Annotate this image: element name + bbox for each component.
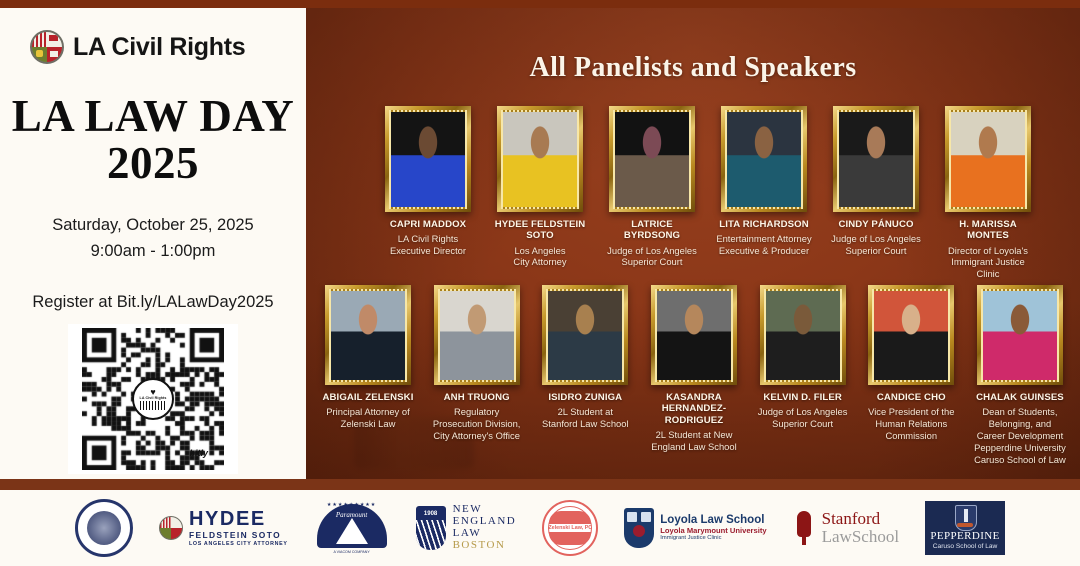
panelist-photo <box>727 112 801 207</box>
panelist-row-1: CAPRI MADDOXLA Civil RightsExecutive Dir… <box>378 106 1038 280</box>
portrait-frame <box>868 285 954 385</box>
nel-year: 1908 <box>416 511 446 517</box>
sponsor-logo-loyola-law-school: Loyola Law School Loyola Marymount Unive… <box>624 508 766 548</box>
panelist-name: CHALAK GUINSES <box>976 392 1064 403</box>
loyola-line3: Immigrant Justice Clinic <box>660 535 766 541</box>
portrait-frame <box>325 285 411 385</box>
brand-name: LA Civil Rights <box>73 33 245 62</box>
left-info-panel: LA Civil Rights LA LAW DAY 2025 Saturday… <box>0 8 306 479</box>
panelist-title: Dean of Students,Belonging, andCareer De… <box>974 406 1066 465</box>
panelist-name: CAPRI MADDOX <box>390 219 466 230</box>
heart-icon: ♥ <box>150 388 155 396</box>
flyer-root: LA Civil Rights LA LAW DAY 2025 Saturday… <box>0 0 1080 566</box>
panelist-title: RegulatoryProsecution Division,City Atto… <box>433 406 521 442</box>
portrait-frame <box>977 285 1063 385</box>
event-title-line2: 2025 <box>0 140 306 187</box>
qr-code-icon[interactable]: ♥ LA Civil Rights bitly <box>82 328 224 470</box>
shield-icon: 1908 <box>416 506 446 550</box>
panelist-name: ANH TRUONG <box>444 392 510 403</box>
panelist-photo <box>874 291 948 380</box>
panelist-name: CINDY PÁNUCO <box>838 219 913 230</box>
panelist-photo <box>951 112 1025 207</box>
panelist-title: Director of Loyola'sImmigrant JusticeCli… <box>948 245 1028 281</box>
portrait-frame <box>609 106 695 212</box>
loyola-line1: Loyola Law School <box>660 514 766 527</box>
top-border-rule <box>0 0 1080 8</box>
panelist-photo <box>503 112 577 207</box>
panelist-photo <box>839 112 913 207</box>
panelist-photo <box>331 291 405 380</box>
event-date: Saturday, October 25, 2025 <box>0 213 306 239</box>
panelist-title: LA Civil RightsExecutive Director <box>390 233 466 257</box>
portrait-frame <box>385 106 471 212</box>
qr-center-logo: ♥ LA Civil Rights <box>132 378 174 420</box>
stanford-tree-icon <box>793 511 815 545</box>
panelist-photo <box>440 291 514 380</box>
qr-watermark: bitly <box>189 448 208 458</box>
panelist-photo <box>657 291 731 380</box>
panelist-title: 2L Student at NewEngland Law School <box>651 429 736 453</box>
panelist-title: Judge of Los AngelesSuperior Court <box>758 406 848 430</box>
qr-code-card[interactable]: ♥ LA Civil Rights bitly <box>68 324 238 474</box>
sponsor-logo-stanford-law-school: Stanford LawSchool <box>793 510 899 545</box>
portrait-frame <box>434 285 520 385</box>
court-seal-icon <box>75 499 133 557</box>
panelist-card: ISIDRO ZUNIGA2L Student atStanford Law S… <box>535 285 635 430</box>
brand-lockup: LA Civil Rights <box>30 30 245 64</box>
panelist-photo <box>766 291 840 380</box>
event-datetime: Saturday, October 25, 2025 9:00am - 1:00… <box>0 213 306 264</box>
zelenski-name: Zelenski Law, PC <box>544 525 596 531</box>
hydee-line1: HYDEE <box>189 509 288 529</box>
panelist-card: ANH TRUONGRegulatoryProsecution Division… <box>427 285 527 442</box>
sponsor-logo-superior-court <box>75 499 133 557</box>
la-city-seal-icon <box>30 30 64 64</box>
paramount-name: Paramount <box>314 511 390 519</box>
separator-rule <box>0 479 1080 490</box>
panelist-name: KASANDRA HERNANDEZ-RODRIGUEZ <box>644 392 744 426</box>
sponsor-logo-hydee-feldstein-soto: HYDEE FELDSTEIN SOTO LOS ANGELES CITY AT… <box>159 509 288 547</box>
panelist-card: CAPRI MADDOXLA Civil RightsExecutive Dir… <box>378 106 478 257</box>
panelist-title: Judge of Los AngelesSuperior Court <box>831 233 921 257</box>
panelist-row-2: ABIGAIL ZELENSKIPrincipal Attorney ofZel… <box>318 285 1070 466</box>
paramount-foot: A VIACOM COMPANY <box>314 550 390 554</box>
nel-line4: BOSTON <box>453 540 517 552</box>
portrait-frame <box>721 106 807 212</box>
panelist-name: LITA RICHARDSON <box>719 219 808 230</box>
panelist-name: H. MARISSA MONTES <box>938 219 1038 242</box>
qr-center-label: LA Civil Rights <box>140 396 167 400</box>
sponsor-logo-zelenski-law: Zelenski Law, PC <box>542 500 598 556</box>
portrait-frame <box>542 285 628 385</box>
panelist-photo <box>391 112 465 207</box>
panelist-card: LATRICE BYRDSONGJudge of Los AngelesSupe… <box>602 106 702 268</box>
panelist-name: ISIDRO ZUNIGA <box>548 392 622 403</box>
panelist-photo <box>615 112 689 207</box>
pepperdine-line2: Caruso School of Law <box>925 543 1005 550</box>
sponsor-logo-strip: HYDEE FELDSTEIN SOTO LOS ANGELES CITY AT… <box>0 490 1080 566</box>
portrait-frame <box>945 106 1031 212</box>
panelist-card: ABIGAIL ZELENSKIPrincipal Attorney ofZel… <box>318 285 418 430</box>
sponsor-logo-pepperdine-caruso-law: PEPPERDINE Caruso School of Law <box>925 501 1005 555</box>
panelist-photo <box>548 291 622 380</box>
event-time: 9:00am - 1:00pm <box>0 239 306 265</box>
panelist-title: Entertainment AttorneyExecutive & Produc… <box>716 233 811 257</box>
pepperdine-shield-icon <box>955 505 977 531</box>
hydee-line2: FELDSTEIN SOTO <box>189 531 288 539</box>
panelist-name: LATRICE BYRDSONG <box>602 219 702 242</box>
sponsor-logo-paramount: ★★★★★★★★★ Paramount A VIACOM COMPANY <box>314 502 390 554</box>
panelist-title: Los AngelesCity Attorney <box>513 245 566 269</box>
panelist-name: CANDICE CHO <box>877 392 946 403</box>
panelist-name: ABIGAIL ZELENSKI <box>323 392 414 403</box>
skyline-icon <box>140 401 166 410</box>
panelists-panel: All Panelists and Speakers CAPRI MADDOXL… <box>306 8 1080 479</box>
portrait-frame <box>651 285 737 385</box>
event-title-line1: LA LAW DAY <box>0 94 306 140</box>
sponsor-logo-new-england-law: 1908 NEW ENGLAND LAW BOSTON <box>416 504 517 552</box>
portrait-frame <box>497 106 583 212</box>
panelist-photo <box>983 291 1057 380</box>
panelist-name: KELVIN D. FILER <box>763 392 842 403</box>
portrait-frame <box>760 285 846 385</box>
panelist-card: CHALAK GUINSESDean of Students,Belonging… <box>970 285 1070 466</box>
panelist-title: Principal Attorney ofZelenski Law <box>326 406 409 430</box>
crest-icon <box>624 508 654 548</box>
panelist-card: HYDEE FELDSTEIN SOTOLos AngelesCity Atto… <box>490 106 590 268</box>
panelist-card: KELVIN D. FILERJudge of Los AngelesSuper… <box>753 285 853 430</box>
stanford-line2: LawSchool <box>822 528 899 546</box>
stars-icon: ★★★★★★★★★ <box>314 502 390 508</box>
hydee-line3: LOS ANGELES CITY ATTORNEY <box>189 542 288 547</box>
panelist-card: LITA RICHARDSONEntertainment AttorneyExe… <box>714 106 814 257</box>
portrait-frame <box>833 106 919 212</box>
loyola-line2: Loyola Marymount University <box>660 527 766 536</box>
page-title: LA LAW DAY 2025 <box>0 94 306 187</box>
section-title: All Panelists and Speakers <box>306 52 1080 84</box>
panelist-card: CANDICE CHOVice President of theHuman Re… <box>861 285 961 442</box>
panelist-title: Vice President of theHuman RelationsComm… <box>868 406 954 442</box>
la-city-seal-icon-small <box>159 516 183 540</box>
panelist-card: KASANDRA HERNANDEZ-RODRIGUEZ2L Student a… <box>644 285 744 453</box>
registration-link[interactable]: Register at Bit.ly/LALawDay2025 <box>0 293 306 312</box>
panelist-name: HYDEE FELDSTEIN SOTO <box>490 219 590 242</box>
stanford-line1: Stanford <box>822 510 899 528</box>
panelist-card: CINDY PÁNUCOJudge of Los AngelesSuperior… <box>826 106 926 257</box>
zelenski-mark-icon: Zelenski Law, PC <box>542 500 598 556</box>
panelist-title: Judge of Los AngelesSuperior Court <box>607 245 697 269</box>
panelist-card: H. MARISSA MONTESDirector of Loyola'sImm… <box>938 106 1038 280</box>
pepperdine-line1: PEPPERDINE <box>925 530 1005 542</box>
panelist-title: 2L Student atStanford Law School <box>542 406 629 430</box>
